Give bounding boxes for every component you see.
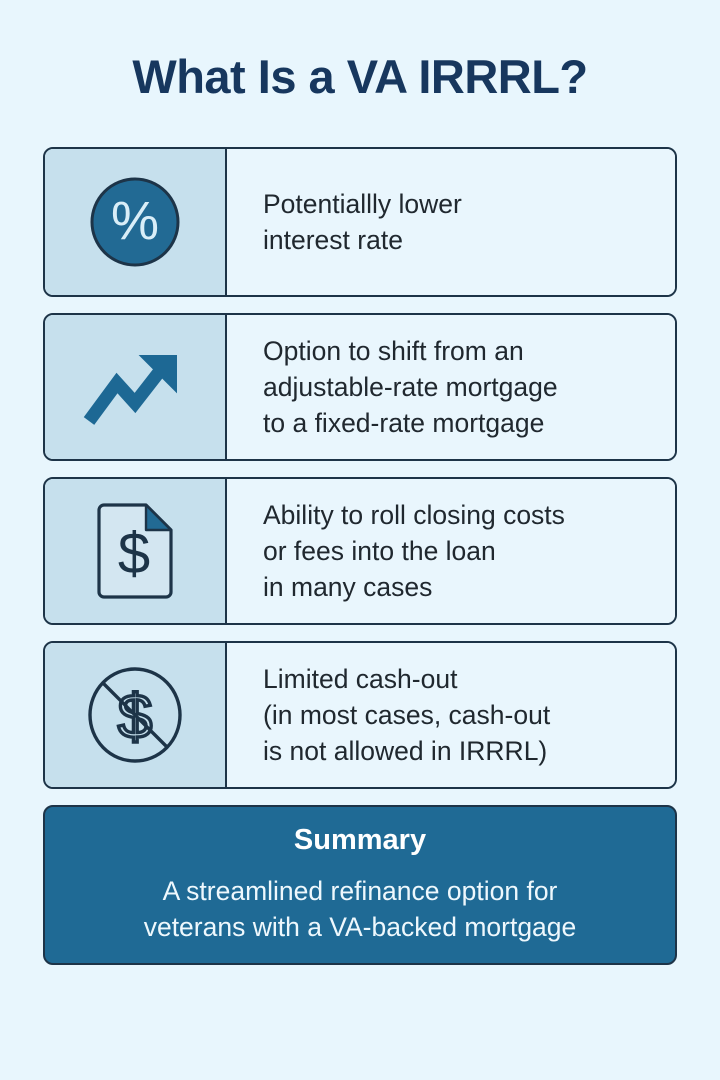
infographic-page: What Is a VA IRRRL? % Potentiallly lower… [0, 0, 720, 1080]
icon-panel: % [45, 149, 227, 295]
text-panel: Potentiallly lower interest rate [227, 149, 675, 295]
page-title: What Is a VA IRRRL? [0, 0, 720, 101]
svg-text:$: $ [118, 521, 150, 586]
benefit-text: Limited cash-out (in most cases, cash-ou… [263, 661, 550, 769]
summary-box: Summary A streamlined refinance option f… [43, 805, 677, 965]
benefit-card-interest-rate: % Potentiallly lower interest rate [43, 147, 677, 297]
document-dollar-icon: $ $ [94, 501, 176, 601]
benefit-text: Potentiallly lower interest rate [263, 186, 462, 258]
percent-circle-icon: % [89, 176, 181, 268]
benefit-text: Option to shift from an adjustable-rate … [263, 333, 558, 441]
no-cash-out-icon: $ [86, 665, 184, 765]
benefit-text: Ability to roll closing costs or fees in… [263, 497, 565, 605]
benefit-card-arm-to-fixed: Option to shift from an adjustable-rate … [43, 313, 677, 461]
summary-heading: Summary [294, 826, 426, 855]
trending-up-arrow-icon [83, 343, 187, 431]
svg-text:%: % [111, 191, 159, 251]
summary-body-text: A streamlined refinance option for veter… [144, 873, 577, 945]
text-panel: Limited cash-out (in most cases, cash-ou… [227, 643, 675, 787]
icon-panel: $ $ [45, 479, 227, 623]
icon-panel [45, 315, 227, 459]
icon-panel: $ [45, 643, 227, 787]
text-panel: Option to shift from an adjustable-rate … [227, 315, 675, 459]
svg-text:$: $ [118, 683, 152, 752]
benefit-card-limited-cash-out: $ Limited cash-out (in most cases, cash-… [43, 641, 677, 789]
text-panel: Ability to roll closing costs or fees in… [227, 479, 675, 623]
benefit-card-roll-closing-costs: $ $ Ability to roll closing costs or fee… [43, 477, 677, 625]
benefit-card-list: % Potentiallly lower interest rate Optio [0, 147, 720, 789]
